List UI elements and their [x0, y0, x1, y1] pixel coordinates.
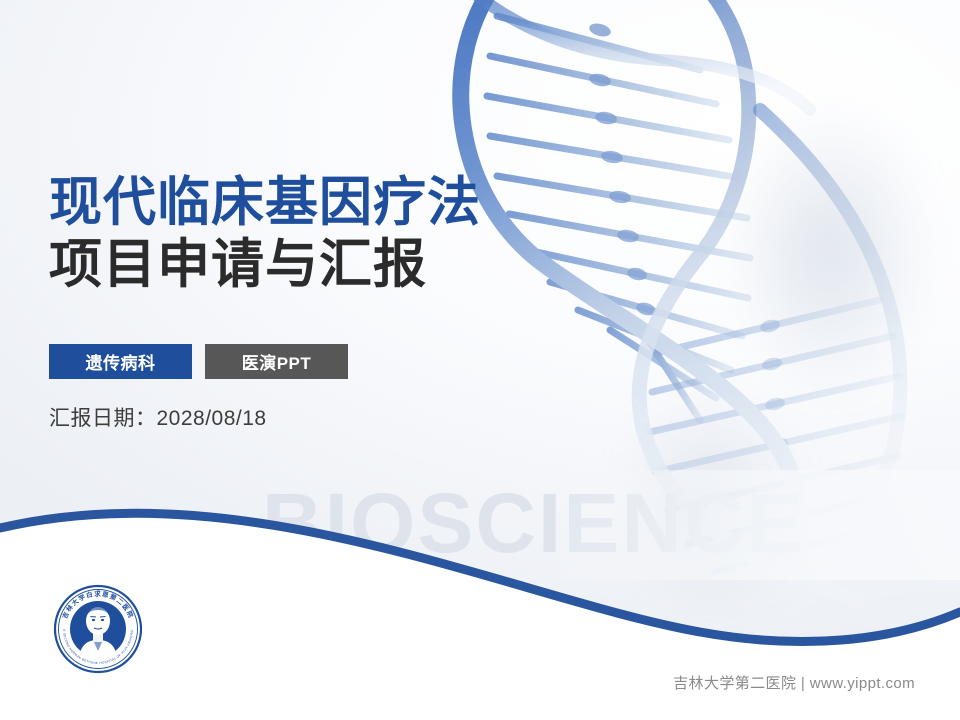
- badge-department[interactable]: 遗传病科: [49, 344, 192, 379]
- page-title: 现代临床基因疗法 项目申请与汇报: [49, 172, 481, 296]
- footer-credit: 吉林大学第二医院 | www.yippt.com: [673, 672, 915, 693]
- presentation-title-slide: BIOSCIENCE 现代临床基因疗法 项目申请与汇报 遗传病科 医演PPT 汇…: [0, 0, 960, 720]
- title-line-1: 现代临床基因疗法: [49, 172, 481, 234]
- report-date: 汇报日期：2028/08/18: [49, 402, 267, 432]
- hospital-seal-icon: 吉林大学白求恩第二医院 THE SECOND NORMAN BETHUNE HO…: [52, 583, 144, 675]
- hospital-logo: 吉林大学白求恩第二医院 THE SECOND NORMAN BETHUNE HO…: [52, 583, 144, 675]
- badge-group: 遗传病科 医演PPT: [49, 344, 348, 379]
- title-line-2: 项目申请与汇报: [49, 234, 481, 296]
- badge-template-brand[interactable]: 医演PPT: [205, 344, 348, 379]
